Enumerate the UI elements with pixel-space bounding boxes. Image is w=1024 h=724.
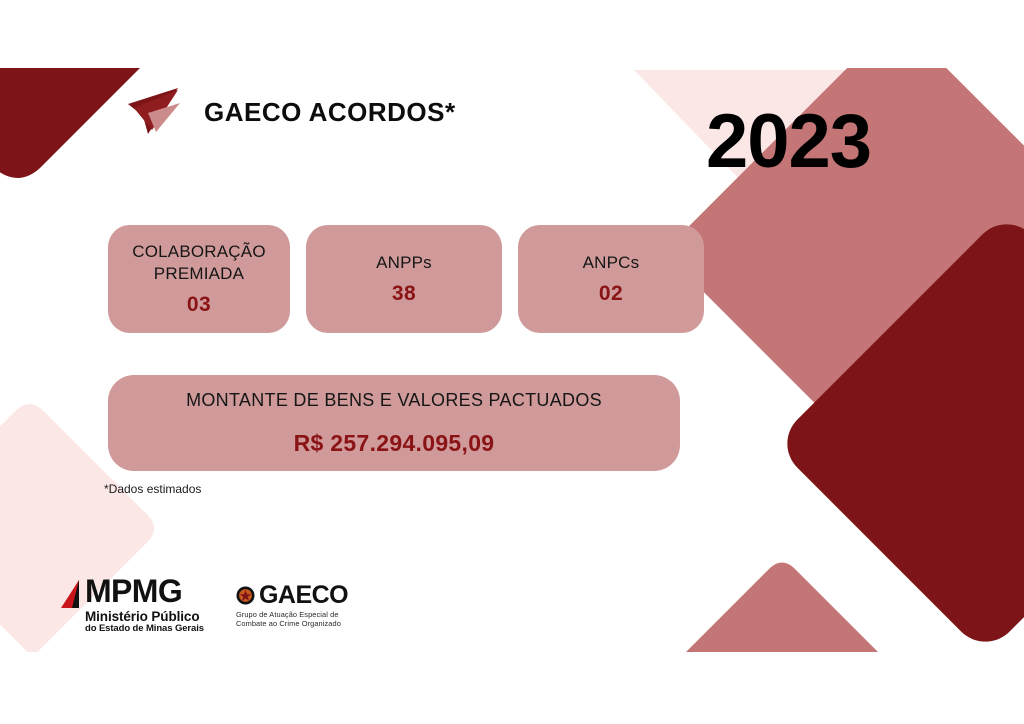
slide-canvas: GAECO ACORDOS* 2023 COLABORAÇÃO PREMIADA…: [0, 0, 1024, 724]
stat-card-label: ANPPs: [376, 252, 432, 274]
gaeco-seal-icon: [236, 586, 255, 605]
stat-cards-row: COLABORAÇÃO PREMIADA 03 ANPPs 38 ANPCs 0…: [108, 225, 704, 333]
shape-rose-bottom-triangle: [686, 563, 878, 653]
shape-top-white-band: [0, 0, 1024, 68]
header: GAECO ACORDOS*: [126, 86, 456, 138]
stat-card-value: 03: [187, 293, 211, 317]
total-amount-label: MONTANTE DE BENS E VALORES PACTUADOS: [186, 390, 602, 411]
page-title: GAECO ACORDOS*: [204, 97, 456, 128]
gaeco-wordmark: GAECO: [259, 584, 348, 607]
stat-card-value: 38: [392, 282, 416, 306]
mpmg-triangle-icon: [58, 578, 84, 628]
mpmg-wordmark: MPMG: [85, 578, 204, 606]
shape-rose-diagonal-upper: [663, 18, 1024, 435]
logo-row: MPMG Ministério Público do Estado de Min…: [58, 578, 348, 635]
stat-card-anpcs[interactable]: ANPCs 02: [518, 225, 704, 333]
stat-card-colaboracao-premiada[interactable]: COLABORAÇÃO PREMIADA 03: [108, 225, 290, 333]
shape-maroon-diagonal-lower: [773, 210, 1024, 655]
stat-card-value: 02: [599, 282, 623, 306]
stat-card-label: ANPCs: [583, 252, 640, 274]
gaeco-subtitle-line1: Grupo de Atuação Especial de: [236, 610, 348, 620]
shape-bottom-white-band: [0, 652, 1024, 724]
total-amount-banner[interactable]: MONTANTE DE BENS E VALORES PACTUADOS R$ …: [108, 375, 680, 471]
gaeco-logo: GAECO Grupo de Atuação Especial de Comba…: [236, 584, 348, 629]
stat-card-anpps[interactable]: ANPPs 38: [306, 225, 502, 333]
gaeco-subtitle-line2: Combate ao Crime Organizado: [236, 619, 348, 629]
stat-card-label: COLABORAÇÃO PREMIADA: [122, 241, 276, 285]
paper-plane-icon: [126, 86, 188, 138]
mpmg-logo: MPMG Ministério Público do Estado de Min…: [58, 578, 204, 635]
footnote: *Dados estimados: [104, 482, 201, 496]
mpmg-subtitle-primary: Ministério Público: [85, 609, 204, 625]
year-label: 2023: [706, 104, 871, 180]
mpmg-subtitle-secondary: do Estado de Minas Gerais: [85, 624, 204, 635]
shape-top-left-triangle: [0, 68, 140, 178]
total-amount-value: R$ 257.294.095,09: [294, 430, 495, 457]
